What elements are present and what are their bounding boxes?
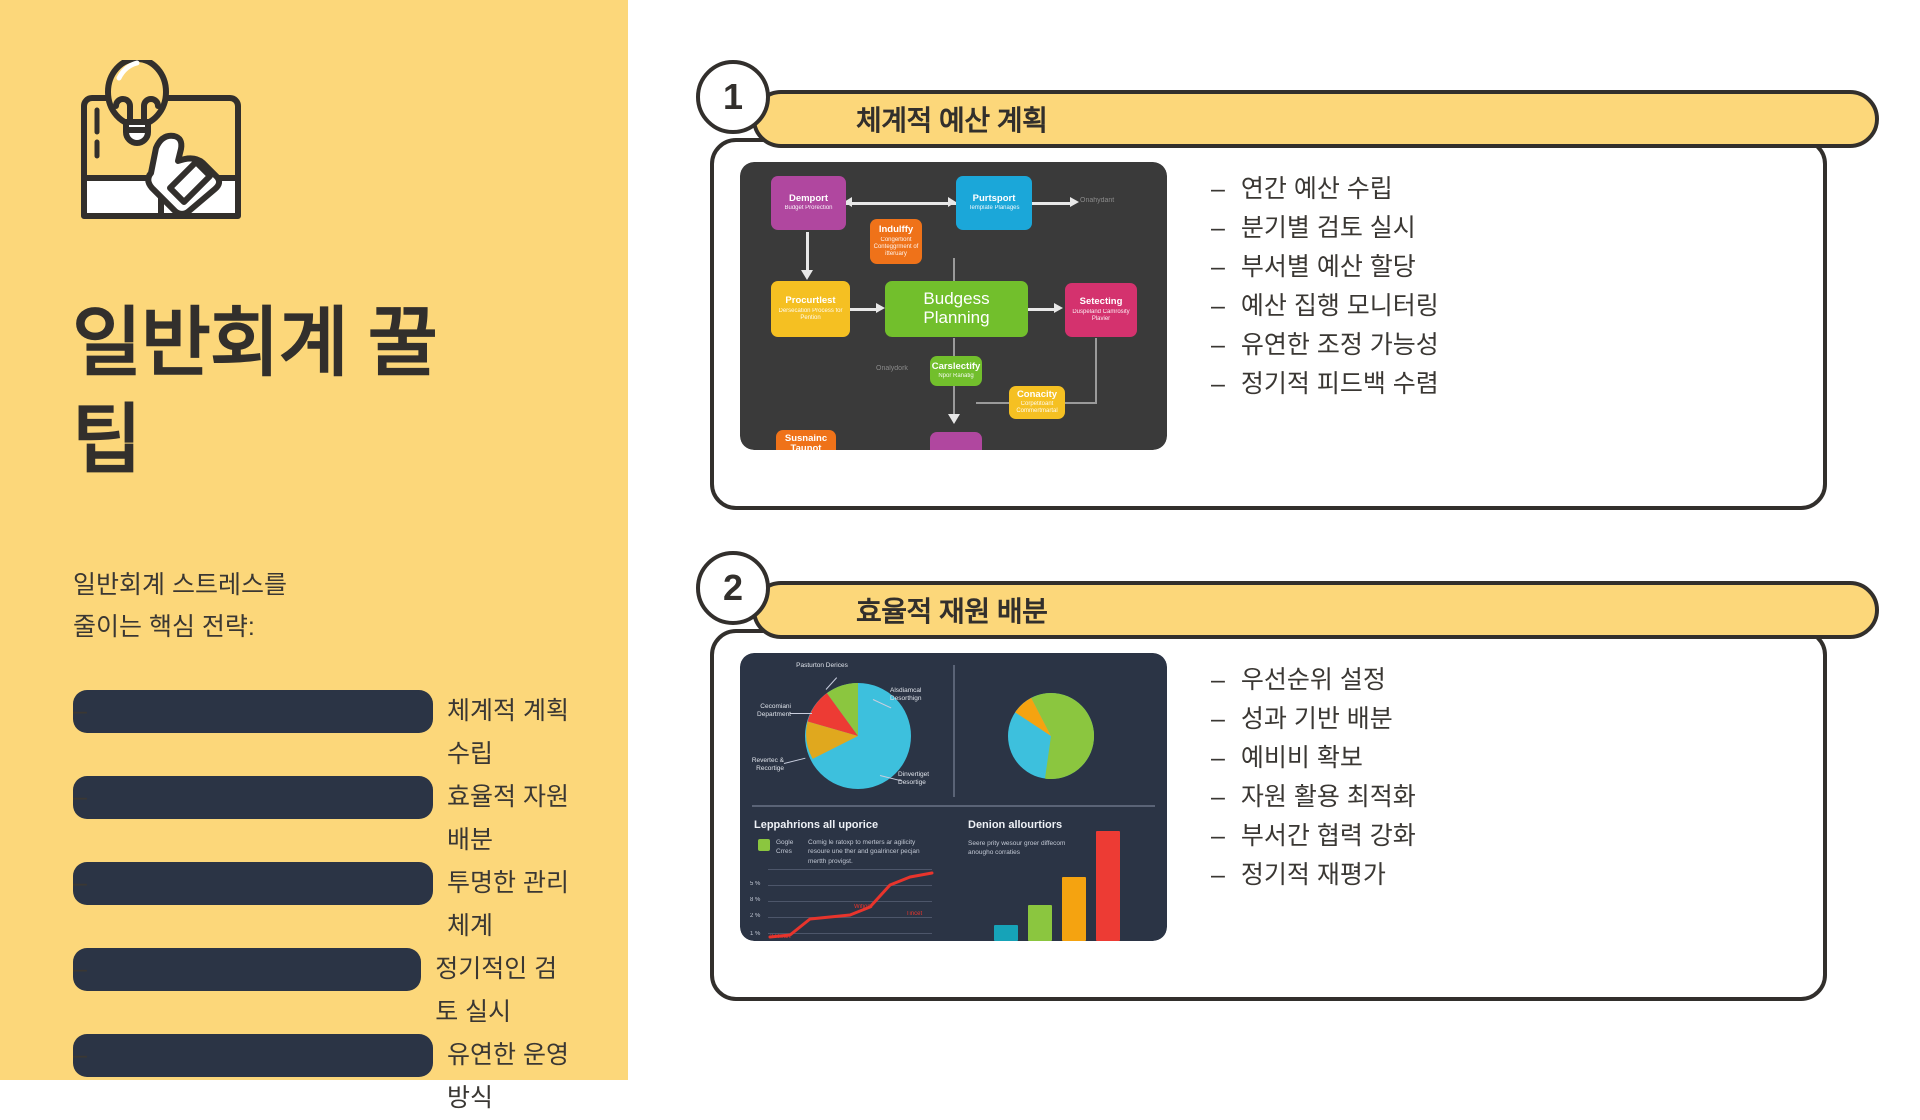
flow-arrowhead [948,197,956,207]
dashboard-divider [752,805,1155,807]
list-item: –유연한 조정 가능성 [1211,326,1439,365]
flow-connector [1032,202,1072,205]
dash-marker: – [1211,700,1225,739]
flow-node: Procurtlest Dersecation Process for Pent… [771,281,850,337]
list-item-label: 연간 예산 수립 [1241,170,1393,209]
list-item: –유연한 운영 방식 [73,1034,573,1120]
list-item-label: 정기적 재평가 [1241,856,1386,895]
intro-text: 일반회계 스트레스를 줄이는 핵심 전략: [73,565,553,648]
flow-node-sub: Corpetitoant Commertmartal [1012,401,1062,415]
y-axis-tick: 1 % [750,931,760,937]
list-item: –성과 기반 배분 [1211,700,1416,739]
pie-label: Pasturton Derices [796,662,848,670]
list-item-label: 우선순위 설정 [1241,661,1386,700]
flow-connector [806,232,809,274]
flow-node: Setecting Duspeland Camrosity Plavier [1065,283,1137,337]
list-item-label: 자원 활용 최적화 [1241,778,1416,817]
flow-node: Indulffy Congertiont Conteggrment of itt… [870,219,922,264]
dash-marker: – [1211,856,1225,895]
lightbulb-presentation-board-icon [78,60,258,235]
flow-node-title: Conacity [1017,390,1057,400]
list-item-label: 부서별 예산 할당 [1241,248,1416,287]
flow-node-title: Procurtlest [785,296,835,306]
flow-connector [1028,308,1056,311]
y-axis-tick: 5 % [750,881,760,887]
pie-leader-line [790,713,812,714]
flow-node-title: Budgess Planning [888,290,1025,327]
flow-arrowhead [948,414,960,424]
list-item-label: 유연한 운영 방식 [447,1034,573,1120]
dash-marker: – [1211,739,1225,778]
flow-connector [953,338,955,358]
list-item: –분기별 검토 실시 [1211,209,1439,248]
flow-node-sub: Template Planages [968,205,1019,212]
list-item: –우선순위 설정 [1211,661,1416,700]
card-2-number-badge: 2 [696,551,770,625]
flow-connector [1095,338,1097,402]
y-axis-tick: 8 % [750,897,760,903]
flow-node: Purtsport Template Planages [956,176,1032,230]
list-item: –정기적 재평가 [1211,856,1416,895]
flow-node-sub: Budget Prorection [784,205,832,212]
card-2-bullet-list: –우선순위 설정 –성과 기반 배분 –예비비 확보 –자원 활용 최적화 –부… [1211,661,1416,895]
flow-arrowhead [876,303,885,313]
pie-chart-right [1008,693,1094,779]
dash-marker: – [73,1034,433,1077]
card-2-body: Pasturton Derices Alsdiamcal Desorthign … [714,633,1823,997]
list-item: –자원 활용 최적화 [1211,778,1416,817]
dash-marker: – [1211,170,1225,209]
flow-node-sub: Congertiont Conteggrment of itteruary [873,237,919,258]
flow-node: Carslectify Npor Ranatig [930,356,982,386]
dash-marker: – [73,862,433,905]
flow-node: Susnainc Taunot [776,430,836,450]
list-item: –체계적 계획 수립 [73,690,573,776]
flow-connector [953,258,955,282]
left-panel: 일반회계 꿀 팁 일반회계 스트레스를 줄이는 핵심 전략: –체계적 계획 수… [0,0,628,1080]
list-item: –효율적 자원 배분 [73,776,573,862]
list-item-label: 유연한 조정 가능성 [1241,326,1439,365]
flow-node-title: Purtsport [973,194,1016,204]
dash-marker: – [73,948,421,991]
y-axis-tick: 2 % [750,913,760,919]
tip-card-1: 체계적 예산 계획 1 [710,138,1827,510]
flow-arrowhead [1054,303,1063,313]
dash-marker: – [73,690,433,733]
legend-swatch [758,839,770,851]
line-point-label: Wifiont [854,904,872,910]
content-area: 체계적 예산 계획 1 [628,0,1920,1080]
bar [1028,905,1052,941]
flow-node-primary: Budgess Planning [885,281,1028,337]
dash-marker: – [73,776,433,819]
flow-node-title: Carslectify [932,362,981,372]
flow-arrowhead [1070,197,1079,207]
flow-connector [850,308,878,311]
dash-marker: – [1211,287,1225,326]
flow-node-title: Susnainc Taunot [779,434,833,450]
pie-label: Cecomiani Department [743,703,791,719]
list-item-label: 효율적 자원 배분 [447,776,573,862]
list-item: –예비비 확보 [1211,739,1416,778]
dash-marker: – [1211,326,1225,365]
list-item: –부서간 협력 강화 [1211,817,1416,856]
list-item-label: 정기적인 검토 실시 [435,948,573,1034]
bar-chart-description: Seere prity wesour groer diffecom anough… [968,839,1084,858]
flow-arrowhead [801,270,813,280]
flow-ghost-label: Onalydork [876,365,908,372]
list-item-label: 부서간 협력 강화 [1241,817,1416,856]
pie-label: Revertec & Recortige [740,757,784,773]
page-title: 일반회계 꿀 팁 [72,295,552,490]
card-2-header-bar: 효율적 재원 배분 [752,581,1879,639]
line-point-label: 2 Rivart [770,934,791,940]
bar [1096,831,1120,941]
bar [994,925,1018,941]
list-item: –부서별 예산 할당 [1211,248,1439,287]
list-item: –예산 집행 모니터링 [1211,287,1439,326]
pie-leader-line [784,758,806,764]
dash-marker: – [1211,209,1225,248]
card-1-number-badge: 1 [696,60,770,134]
flow-ghost-label: Onahydant [1080,197,1114,204]
dash-marker: – [1211,365,1225,404]
legend-label: Gogle Crres [776,838,804,857]
line-chart-series [768,863,934,941]
pie-label: Alsdiamcal Desorthign [890,687,948,703]
card-1-header-bar: 체계적 예산 계획 [752,90,1879,148]
flow-node [930,432,982,450]
flow-node: Demport Budget Prorection [771,176,846,230]
list-item: –정기적인 검토 실시 [73,948,573,1034]
dashboard-divider [953,665,955,797]
card-1-bullet-list: –연간 예산 수립 –분기별 검토 실시 –부서별 예산 할당 –예산 집행 모… [1211,170,1439,404]
card-1-thumbnail-flowchart: Onahydant Onalydork Demport Budget Prore… [740,162,1167,450]
flowchart-canvas: Onahydant Onalydork Demport Budget Prore… [740,162,1167,450]
flow-node-sub: Duspeland Camrosity Plavier [1068,309,1134,323]
key-strategy-list: –체계적 계획 수립 –효율적 자원 배분 –투명한 관리 체계 –정기적인 검… [73,690,573,1120]
dash-marker: – [1211,661,1225,700]
flow-node-title: Indulffy [879,225,913,235]
tip-card-2: 효율적 재원 배분 2 Pasturto [710,629,1827,1001]
list-item-label: 정기적 피드백 수렴 [1241,365,1439,404]
flow-node-title: Setecting [1080,297,1123,307]
dash-marker: – [1211,248,1225,287]
flow-connector [846,202,956,205]
flow-node: Conacity Corpetitoant Commertmartal [1009,386,1065,419]
bar [1062,877,1086,941]
list-item-label: 성과 기반 배분 [1241,700,1393,739]
list-item-label: 분기별 검토 실시 [1241,209,1416,248]
card-1-body: Onahydant Onalydork Demport Budget Prore… [714,142,1823,506]
pie-label: Dinvertiget Desortige [898,771,950,787]
flow-node-title: Demport [789,194,828,204]
card-2-thumbnail-dashboard: Pasturton Derices Alsdiamcal Desorthign … [740,653,1167,941]
card-2-title: 효율적 재원 배분 [856,590,1047,630]
bar-chart-title: Denion allourtiors [968,819,1062,831]
list-item-label: 예산 집행 모니터링 [1241,287,1439,326]
line-point-label: Tincet [906,911,922,917]
line-chart-title: Leppahrions all uporice [754,819,878,831]
list-item: –정기적 피드백 수렴 [1211,365,1439,404]
list-item-label: 체계적 계획 수립 [447,690,573,776]
flow-node-sub: Dersecation Process for Pention [774,308,847,322]
list-item: –투명한 관리 체계 [73,862,573,948]
list-item-label: 투명한 관리 체계 [447,862,573,948]
flow-connector [953,384,955,416]
dashboard-canvas: Pasturton Derices Alsdiamcal Desorthign … [740,653,1167,941]
list-item-label: 예비비 확보 [1241,739,1363,778]
dash-marker: – [1211,817,1225,856]
flow-node-sub: Npor Ranatig [938,373,973,380]
dash-marker: – [1211,778,1225,817]
list-item: –연간 예산 수립 [1211,170,1439,209]
card-1-title: 체계적 예산 계획 [856,99,1047,139]
